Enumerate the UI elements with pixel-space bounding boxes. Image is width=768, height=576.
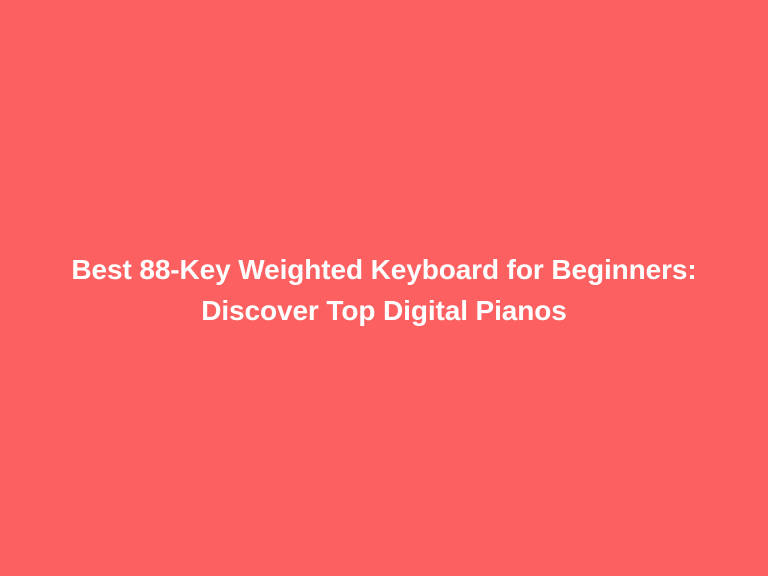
placeholder-card: Best 88-Key Weighted Keyboard for Beginn… [0,0,768,576]
page-title: Best 88-Key Weighted Keyboard for Beginn… [24,249,744,331]
title-block: Best 88-Key Weighted Keyboard for Beginn… [0,249,768,331]
page-title-line-2: Discover Top Digital Pianos [24,290,744,331]
page-title-line-1: Best 88-Key Weighted Keyboard for Beginn… [24,249,744,290]
